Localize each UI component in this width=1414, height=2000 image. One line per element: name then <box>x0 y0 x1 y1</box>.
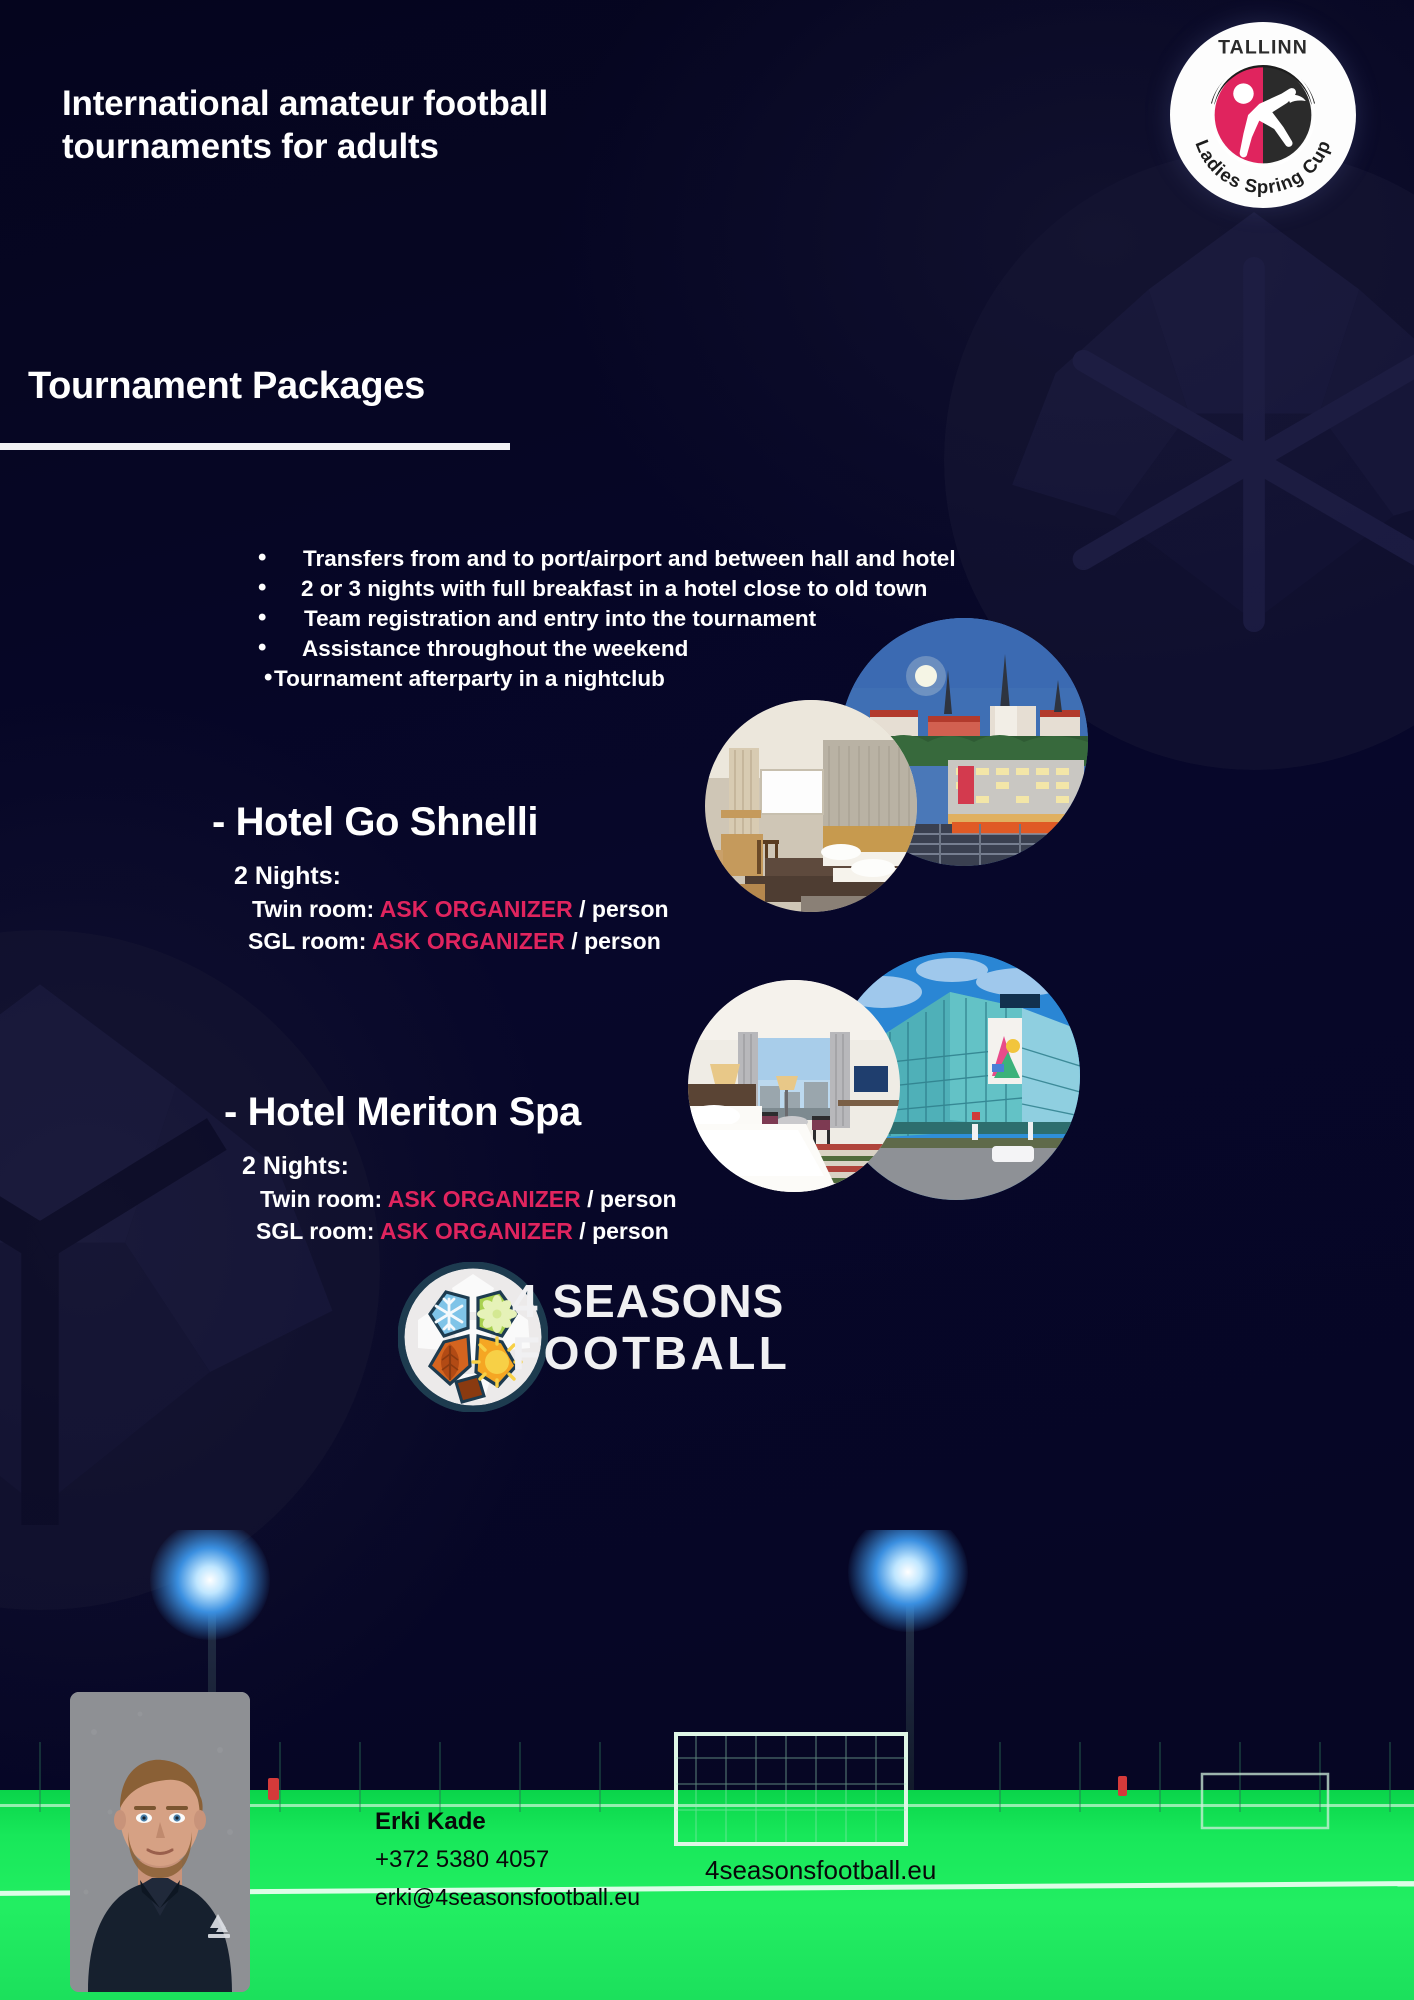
list-item: • 2 or 3 nights with full breakfast in a… <box>246 578 1356 601</box>
hotel-name: - Hotel Go Shnelli <box>212 800 669 845</box>
twin-room-suffix: / person <box>581 1186 677 1212</box>
floodlight-glow-right <box>848 1530 968 1632</box>
erki-kade-portrait <box>70 1692 250 1992</box>
poster-canvas: International amateur football tournamen… <box>0 0 1414 2000</box>
hotel-sgl-price-row: SGL room: ASK ORGANIZER / person <box>212 928 669 955</box>
sgl-room-price: ASK ORGANIZER <box>372 928 565 954</box>
contact-email[interactable]: erki@4seasonsfootball.eu <box>375 1884 640 1911</box>
hotel-go-shnelli-block: - Hotel Go Shnelli 2 Nights: Twin room: … <box>212 800 669 955</box>
brand-line-2: FOOTBALL <box>512 1330 790 1376</box>
section-divider <box>0 443 510 450</box>
sgl-room-label: SGL room: <box>256 1218 380 1244</box>
list-item-label: 2 or 3 nights with full breakfast in a h… <box>301 576 927 601</box>
sgl-room-price: ASK ORGANIZER <box>380 1218 573 1244</box>
hotel-nights: 2 Nights: <box>212 1152 677 1181</box>
hotel-nights: 2 Nights: <box>212 862 669 891</box>
page-title: International amateur football tournamen… <box>62 82 702 169</box>
twin-room-suffix: / person <box>573 896 669 922</box>
contact-website[interactable]: 4seasonsfootball.eu <box>705 1855 936 1886</box>
hotel-sgl-price-row: SGL room: ASK ORGANIZER / person <box>212 1218 677 1245</box>
contact-block: Erki Kade +372 5380 4057 erki@4seasonsfo… <box>375 1808 640 1911</box>
list-item-label: Tournament afterparty in a nightclub <box>274 666 665 691</box>
ball-watermark-left <box>0 930 380 1610</box>
section-heading: Tournament Packages <box>28 365 425 408</box>
bullet-icon: • <box>258 576 266 600</box>
bullet-icon: • <box>264 666 272 690</box>
list-item: • Assistance throughout the weekend <box>246 638 1356 661</box>
twin-room-label: Twin room: <box>252 896 380 922</box>
list-item: • Team registration and entry into the t… <box>246 608 1356 631</box>
list-item: • Tournament afterparty in a nightclub <box>246 668 1356 691</box>
badge-top-text: TALLINN <box>1218 37 1308 59</box>
hotel-twin-price-row: Twin room: ASK ORGANIZER / person <box>212 1186 677 1213</box>
list-item: • Transfers from and to port/airport and… <box>246 548 1356 571</box>
twin-room-price: ASK ORGANIZER <box>388 1186 581 1212</box>
sgl-room-suffix: / person <box>573 1218 669 1244</box>
hotel-name: - Hotel Meriton Spa <box>212 1090 677 1135</box>
list-item-label: Team registration and entry into the tou… <box>304 606 816 631</box>
floodlight-glow-left <box>150 1530 270 1640</box>
brand-wordmark: 4 SEASONS FOOTBALL <box>512 1278 790 1376</box>
bullet-icon: • <box>258 546 266 570</box>
pitch-marker-light <box>268 1778 279 1800</box>
page-title-line-1: International amateur football <box>62 82 702 125</box>
bullet-icon: • <box>258 636 266 660</box>
package-inclusions-list: • Transfers from and to port/airport and… <box>246 548 1356 698</box>
pitch-marker-light <box>1118 1776 1127 1796</box>
badge-graphic: TALLINN Ladies Spring Cup <box>1170 22 1356 208</box>
hotel-room-photo <box>705 700 917 912</box>
hotel-meriton-spa-block: - Hotel Meriton Spa 2 Nights: Twin room:… <box>212 1090 677 1245</box>
list-item-label: Transfers from and to port/airport and b… <box>303 546 956 571</box>
list-item-label: Assistance throughout the weekend <box>302 636 688 661</box>
contact-phone[interactable]: +372 5380 4057 <box>375 1846 640 1874</box>
ladies-spring-cup-logo: TALLINN Ladies Spring Cup <box>1170 22 1356 208</box>
twin-room-price: ASK ORGANIZER <box>380 896 573 922</box>
twin-room-label: Twin room: <box>260 1186 388 1212</box>
hotel-twin-price-row: Twin room: ASK ORGANIZER / person <box>212 896 669 923</box>
contact-name: Erki Kade <box>375 1808 640 1836</box>
sgl-room-suffix: / person <box>565 928 661 954</box>
bullet-icon: • <box>258 606 266 630</box>
meriton-room-photo <box>688 980 900 1192</box>
sgl-room-label: SGL room: <box>248 928 372 954</box>
far-goal-post <box>1200 1772 1330 1830</box>
page-title-line-2: tournaments for adults <box>62 125 702 168</box>
brand-line-1: 4 SEASONS <box>512 1278 790 1324</box>
